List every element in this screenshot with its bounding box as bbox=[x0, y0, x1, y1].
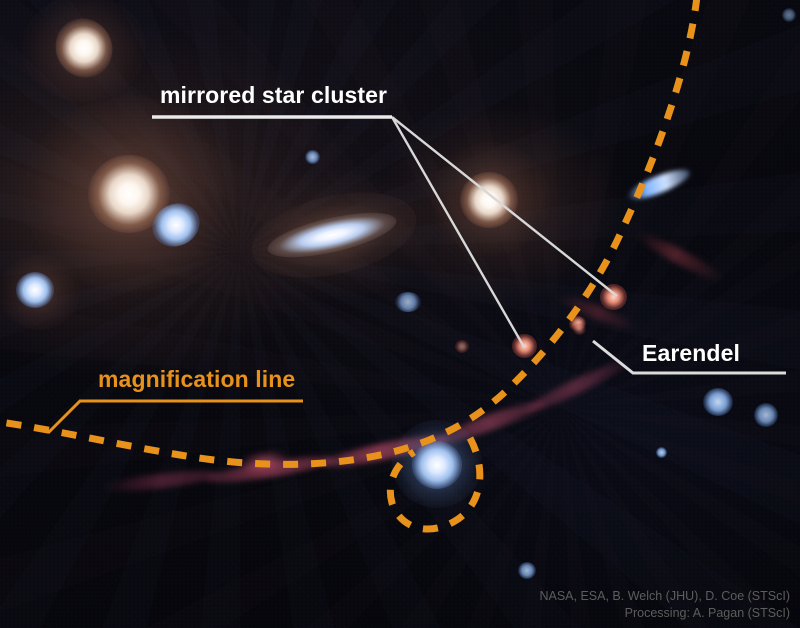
credits-line-1: NASA, ESA, B. Welch (JHU), D. Coe (STScI… bbox=[539, 588, 790, 605]
annotation-overlay bbox=[0, 0, 800, 628]
earendel-label: Earendel bbox=[642, 340, 740, 367]
credits-line-2: Processing: A. Pagan (STScI) bbox=[539, 605, 790, 622]
magnification-line-label: magnification line bbox=[98, 366, 295, 393]
mirrored-star-cluster-leader-upper bbox=[392, 117, 617, 296]
magnification-line-leader bbox=[48, 401, 303, 433]
mirrored-star-cluster-leader-lower bbox=[392, 117, 524, 347]
annotated-astronomy-image: mirrored star cluster magnification line… bbox=[0, 0, 800, 628]
credits-block: NASA, ESA, B. Welch (JHU), D. Coe (STScI… bbox=[539, 588, 790, 622]
mirrored-star-cluster-label: mirrored star cluster bbox=[160, 82, 387, 109]
magnification-dashed-curve bbox=[0, 0, 697, 464]
